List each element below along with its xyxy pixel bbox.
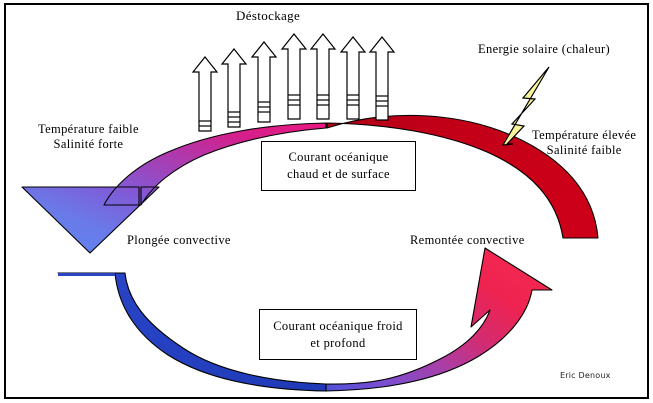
warm-surface-current-box: Courant océanique chaud et de surface (261, 141, 416, 191)
left-condition-line1: Température faible (38, 122, 139, 136)
author-signature: Eric Denoux (560, 371, 611, 380)
upwelling-label: Remontée convective (410, 233, 525, 248)
destockage-label: Déstockage (236, 8, 300, 23)
cold-box-line1: Courant océanique froid (273, 318, 403, 335)
right-condition-line1: Température élevée (532, 128, 636, 142)
warm-box-line1: Courant océanique (288, 149, 388, 166)
right-condition-label: Température élevée Salinité faible (532, 128, 636, 158)
diagram-canvas: Déstockage Energie solaire (chaleur) Tem… (0, 0, 653, 403)
cold-box-line2: et profond (310, 335, 365, 352)
right-condition-line2: Salinité faible (547, 143, 622, 157)
cold-deep-current-box: Courant océanique froid et profond (259, 309, 417, 360)
left-condition-label: Température faible Salinité forte (38, 122, 139, 152)
left-condition-line2: Salinité forte (54, 137, 124, 151)
downwelling-label: Plongée convective (127, 233, 231, 248)
warm-box-line2: chaud et de surface (287, 166, 390, 183)
solar-energy-label: Energie solaire (chaleur) (478, 42, 610, 57)
